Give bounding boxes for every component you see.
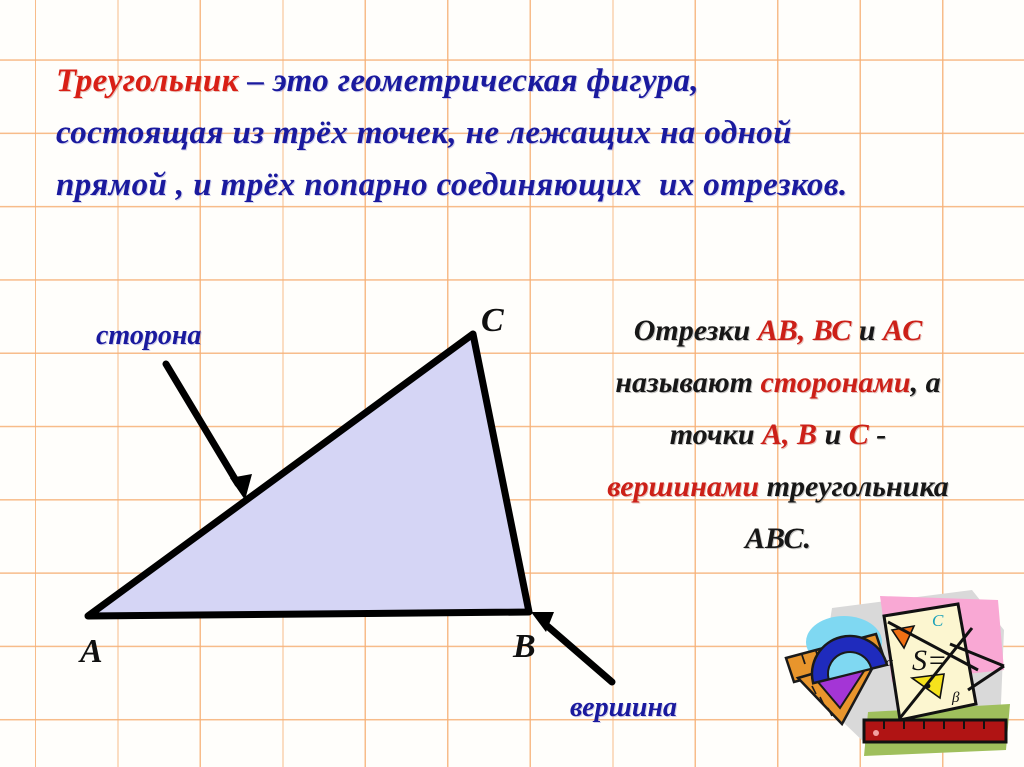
explanation-l2-sides-word: сторонами [760,366,910,399]
callout-label-vertex: вершина [570,692,677,724]
definition-line-1-rest: – это геометрическая фигура, [239,63,699,99]
explanation-l1-c: и [851,314,883,347]
explanation-l3-points-ab: А, В [762,418,817,451]
explanation-l3-c: и [817,418,849,451]
definition-text-block: Треугольник – это геометрическая фигура,… [56,55,966,211]
explanation-line-1: Отрезки АВ, ВС и АС [552,305,1004,357]
clipart-formula-label: S= [912,644,947,677]
side-callout-arrow [166,364,252,500]
definition-keyword: Треугольник [56,63,239,99]
clipart-angle-beta-label: β [951,690,960,706]
explanation-l2-a: называют [615,366,760,399]
vertex-label-b: В [513,628,536,666]
clipart-letter-c-label: C [932,611,944,630]
slide-canvas: Треугольник – это геометрическая фигура,… [0,0,1024,767]
explanation-l3-e: - [869,418,887,451]
definition-line-1: Треугольник – это геометрическая фигура, [56,55,966,107]
ruler-red-icon [864,720,1006,742]
explanation-l1-segments-ab-bc: АВ, ВС [758,314,852,347]
explanation-l4-vertices-word: вершинами [607,470,759,503]
explanation-l3-a: точки [670,418,762,451]
explanation-text-block: Отрезки АВ, ВС и АС называют сторонами, … [552,305,1004,565]
definition-line-3: прямой , и трёх попарно соединяющих их о… [56,159,966,211]
explanation-line-4: вершинами треугольника [552,461,1004,513]
triangle-shape [88,334,529,616]
geometry-tools-clipart: S= α β C [772,578,1022,767]
explanation-line-5: АВС. [552,513,1004,565]
explanation-l2-c: , а [911,366,941,399]
explanation-l4-b: треугольника [759,470,949,503]
explanation-l1-segment-ac: АС [883,314,922,347]
vertex-callout-arrow [531,612,612,682]
explanation-l1-a: Отрезки [634,314,758,347]
explanation-line-3: точки А, В и С - [552,409,1004,461]
vertex-label-c: С [481,302,504,340]
clipart-angle-alpha-label: α [886,654,894,669]
definition-line-2: состоящая из трёх точек, не лежащих на о… [56,107,966,159]
callout-label-side: сторона [96,320,201,352]
vertex-label-a: А [80,633,103,671]
explanation-line-2: называют сторонами, а [552,357,1004,409]
explanation-l3-point-c: С [849,418,869,451]
